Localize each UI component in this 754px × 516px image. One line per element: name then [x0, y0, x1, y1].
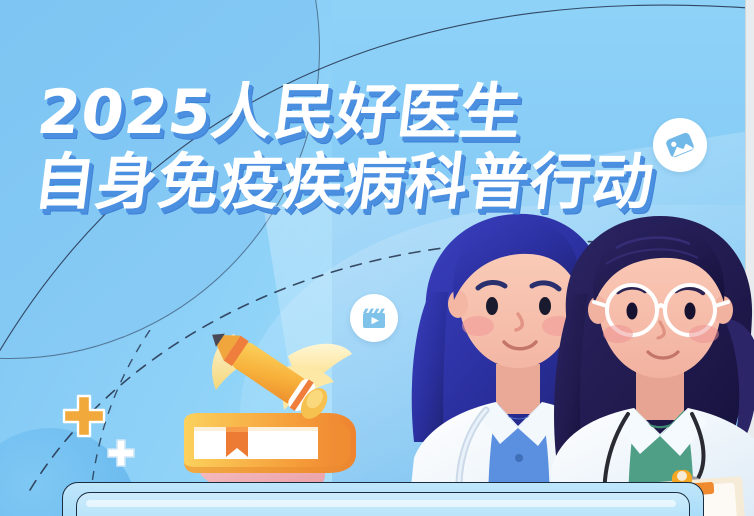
doctor-right-illustration — [548, 208, 754, 516]
video-clapperboard-icon — [359, 303, 389, 333]
plus-orange-icon — [58, 390, 110, 442]
poster-canvas: 2025人民好医生 自身免疫疾病科普行动 — [0, 0, 754, 516]
plus-white-icon — [104, 436, 138, 470]
image-icon — [663, 128, 697, 162]
video-badge[interactable] — [350, 294, 398, 342]
image-badge[interactable] — [653, 118, 707, 172]
desk-highlight — [86, 500, 676, 507]
winged-pencil-illustration — [176, 316, 366, 446]
